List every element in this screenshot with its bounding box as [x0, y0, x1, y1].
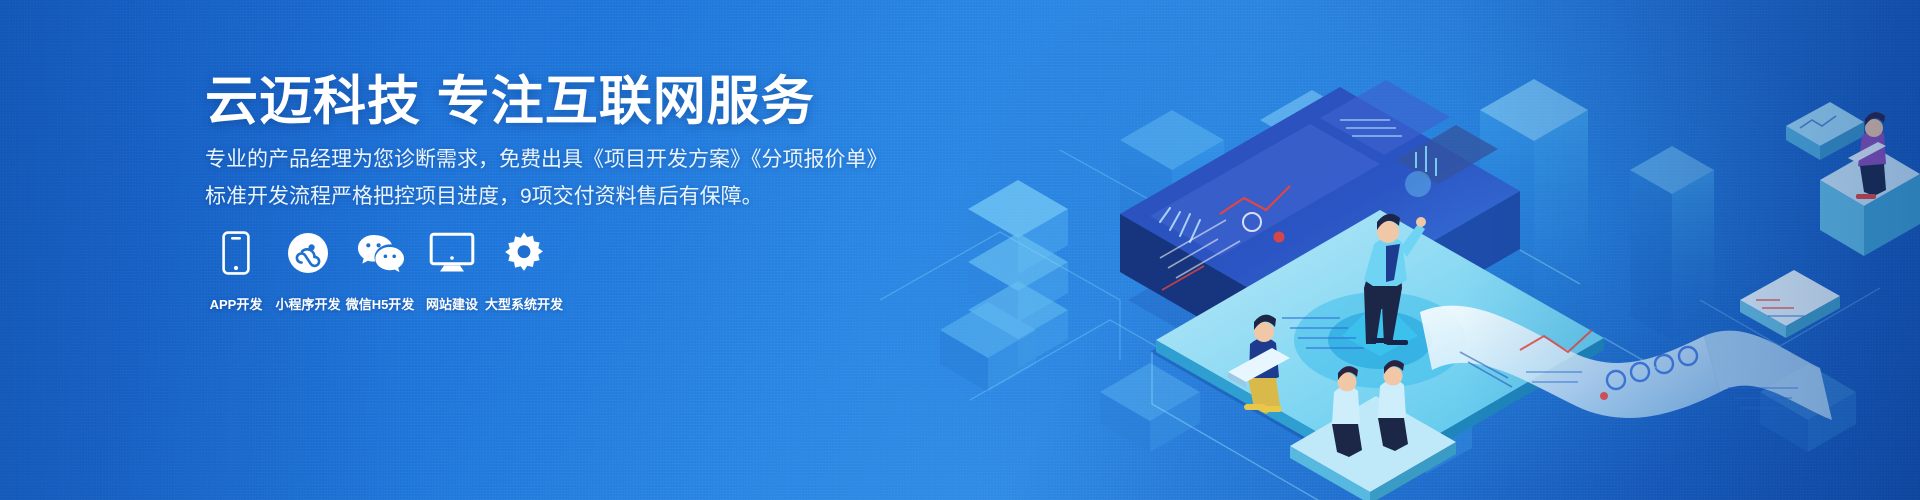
service-label: 网站建设: [426, 294, 478, 313]
service-item-large-system[interactable]: 大型系统开发: [488, 228, 560, 313]
page-title: 云迈科技 专注互联网服务: [205, 70, 815, 134]
service-item-app[interactable]: APP开发: [200, 228, 272, 313]
mini-program-icon: [287, 228, 329, 278]
service-label: 小程序开发: [275, 294, 340, 313]
service-label: 大型系统开发: [485, 294, 563, 313]
service-list: APP开发 小程序开发: [200, 228, 560, 313]
gear-icon: [502, 228, 546, 278]
floating-card: [1786, 102, 1864, 160]
subtitle-line-2: 标准开发流程严格把控项目进度，9项交付资料售后有保障。: [205, 180, 763, 214]
illustration: [820, 0, 1920, 500]
hero-banner: 云迈科技 专注互联网服务 专业的产品经理为您诊断需求，免费出具《项目开发方案》《…: [0, 0, 1920, 500]
service-label: 微信H5开发: [346, 294, 415, 313]
subtitle-line-1: 专业的产品经理为您诊断需求，免费出具《项目开发方案》《分项报价单》: [205, 143, 888, 177]
mobile-phone-icon: [222, 228, 250, 278]
wechat-icon: [355, 228, 405, 278]
service-item-mini-program[interactable]: 小程序开发: [272, 228, 344, 313]
service-label: APP开发: [210, 294, 263, 313]
service-item-website[interactable]: 网站建设: [416, 228, 488, 313]
mini-dashboard: [1740, 270, 1840, 338]
monitor-icon: [429, 228, 475, 278]
service-item-wechat-h5[interactable]: 微信H5开发: [344, 228, 416, 313]
